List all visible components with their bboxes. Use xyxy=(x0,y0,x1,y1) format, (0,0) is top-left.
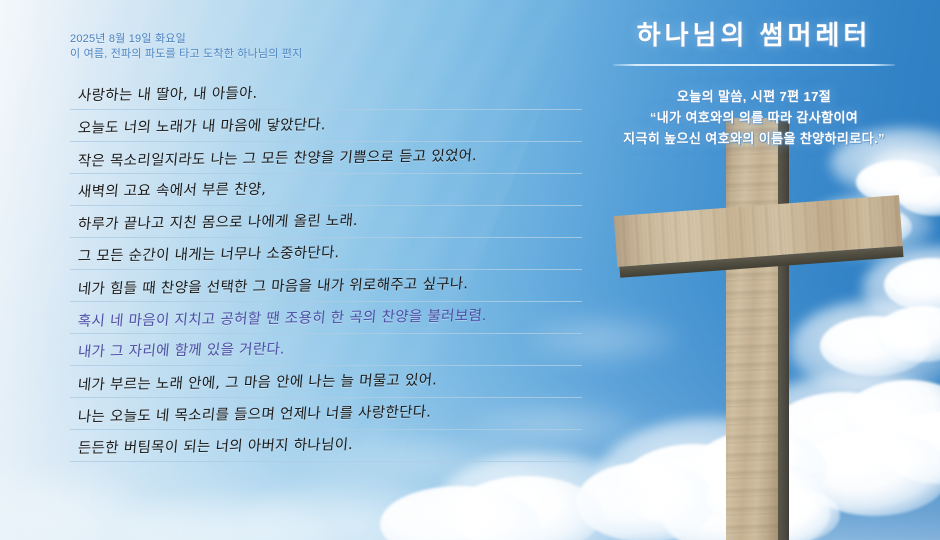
letter-date: 2025년 8월 19일 화요일 xyxy=(70,32,582,47)
letter-line: 새벽의 고요 속에서 부른 찬양, xyxy=(70,174,582,206)
letter-line: 든든한 버팀목이 되는 너의 아버지 하나님이. xyxy=(70,430,582,462)
letter-line: 혹시 네 마음이 지치고 공허할 땐 조용히 한 곡의 찬양을 불러보렴. xyxy=(70,302,582,334)
letter-line: 그 모든 순간이 내게는 너무나 소중하단다. xyxy=(70,238,582,270)
letter-line: 네가 부르는 노래 안에, 그 마음 안에 나는 늘 머물고 있어. xyxy=(70,366,582,398)
letter-line-text: 그 모든 순간이 내게는 너무나 소중하단다. xyxy=(77,244,340,266)
letter-panel: 2025년 8월 19일 화요일 이 여름, 전파의 파도를 타고 도착한 하나… xyxy=(70,32,582,462)
letter-line: 내가 그 자리에 함께 있을 거란다. xyxy=(70,334,582,366)
letter-subtitle: 이 여름, 전파의 파도를 타고 도착한 하나님의 편지 xyxy=(70,47,582,62)
letter-line-text: 혹시 네 마음이 지치고 공허할 땐 조용히 한 곡의 찬양을 불러보렴. xyxy=(77,307,488,331)
letter-line: 네가 힘들 때 찬양을 선택한 그 마음을 내가 위로해주고 싶구나. xyxy=(70,270,582,302)
letter-line-text: 오늘도 너의 노래가 내 마음에 닿았단다. xyxy=(77,116,327,137)
letter-line-text: 사랑하는 내 딸아, 내 아들아. xyxy=(77,85,258,106)
verse-line-2: 지극히 높으신 여호와의 이름을 찬양하리로다.” xyxy=(584,128,924,149)
letter-line-text: 네가 부르는 노래 안에, 그 마음 안에 나는 늘 머물고 있어. xyxy=(77,371,438,394)
letter-line: 작은 목소리일지라도 나는 그 모든 찬양을 기쁨으로 듣고 있었어. xyxy=(70,142,582,174)
letter-line: 오늘도 너의 노래가 내 마음에 닿았단다. xyxy=(70,110,582,142)
verse-line-1: “내가 여호와의 의를 따라 감사함이여 xyxy=(584,107,924,128)
page-title: 하나님의 썸머레터 xyxy=(584,18,924,52)
letter-line-text: 네가 힘들 때 찬양을 선택한 그 마음을 내가 위로해주고 싶구나. xyxy=(77,275,469,298)
letter-line-text: 하루가 끝나고 지친 몸으로 나에게 올린 노래. xyxy=(77,212,359,234)
letter-line: 사랑하는 내 딸아, 내 아들아. xyxy=(70,78,582,110)
letter-line-text: 작은 목소리일지라도 나는 그 모든 찬양을 기쁨으로 듣고 있었어. xyxy=(77,147,478,171)
letter-line: 하루가 끝나고 지친 몸으로 나에게 올린 노래. xyxy=(70,206,582,238)
letter-line-text: 새벽의 고요 속에서 부른 찬양, xyxy=(77,181,267,202)
letter-body: 사랑하는 내 딸아, 내 아들아. 오늘도 너의 노래가 내 마음에 닿았단다.… xyxy=(70,78,582,462)
verse-reference: 오늘의 말씀, 시편 7편 17절 xyxy=(584,86,924,107)
title-divider xyxy=(613,64,895,66)
title-panel: 하나님의 썸머레터 오늘의 말씀, 시편 7편 17절 “내가 여호와의 의를 … xyxy=(584,18,924,149)
letter-line-text: 든든한 버팀목이 되는 너의 아버지 하나님이. xyxy=(77,436,354,458)
letter-line-text: 나는 오늘도 네 목소리를 들으며 언제나 너를 사랑한단다. xyxy=(77,404,432,427)
summer-letter-card: 2025년 8월 19일 화요일 이 여름, 전파의 파도를 타고 도착한 하나… xyxy=(0,0,940,540)
letter-line: 나는 오늘도 네 목소리를 들으며 언제나 너를 사랑한단다. xyxy=(70,398,582,430)
letter-line-text: 내가 그 자리에 함께 있을 거란다. xyxy=(77,341,286,362)
verse-block: 오늘의 말씀, 시편 7편 17절 “내가 여호와의 의를 따라 감사함이여 지… xyxy=(584,86,924,149)
